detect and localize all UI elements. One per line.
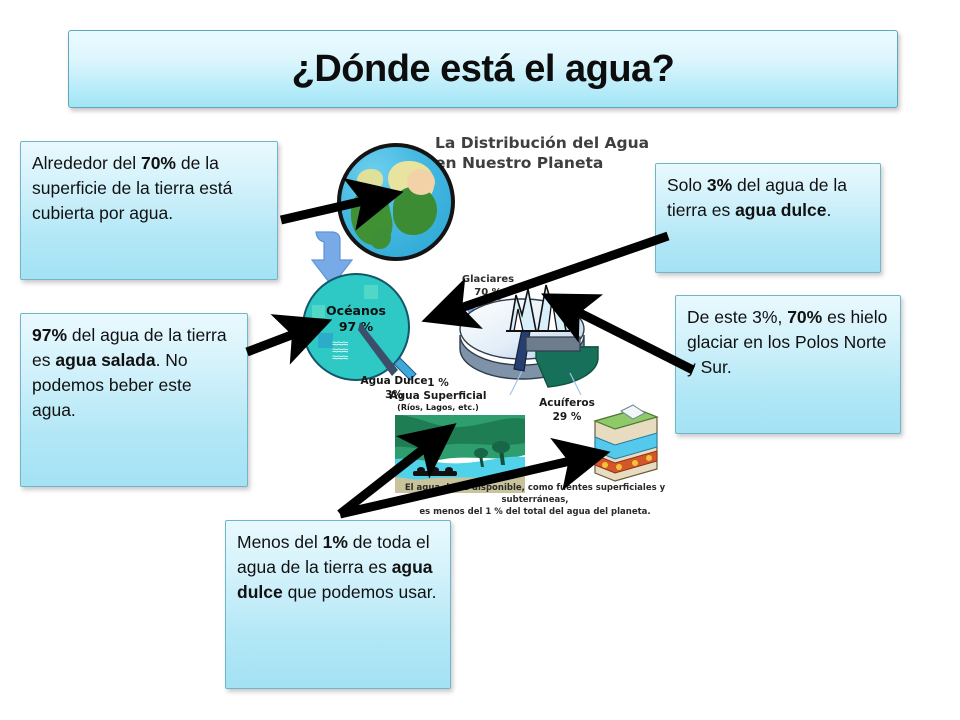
infographic-title-line2: en Nuestro Planeta [435,154,603,172]
acuiferos-value: 29 % [553,411,582,423]
agua-superficial-label: 1 % Agua Superficial (Ríos, Lagos, etc.) [378,377,498,413]
acuiferos-name: Acuíferos [539,397,595,409]
agua-superficial-name: Agua Superficial [389,390,486,402]
glaciares-name: Glaciares [462,274,514,285]
glaciares-value: 70 % [474,287,501,298]
infographic-caption-line1: El agua dulce disponible, como fuentes s… [405,483,665,505]
infographic-title: La Distribución del Agua en Nuestro Plan… [435,133,675,174]
aquifer-block-illustration [593,403,659,483]
callout-salt-97: 97% del agua de la tierra es agua salada… [20,313,248,487]
slide-title-banner: ¿Dónde está el agua? [68,30,898,108]
infographic-caption: El agua dulce disponible, como fuentes s… [400,483,670,519]
freshwater-pie-chart: Glaciares 70 % [452,265,602,395]
callout-usable-1-text: Menos del 1% de toda el agua de la tierr… [237,532,436,602]
callout-glacier-70: De este 3%, 70% es hielo glaciar en los … [675,295,901,434]
page-title: ¿Dónde está el agua? [292,48,675,91]
callout-fresh-3: Solo 3% del agua de la tierra es agua du… [655,163,881,273]
agua-superficial-value: 1 % [427,377,448,389]
callout-surface-70: Alrededor del 70% de la superficie de la… [20,141,278,280]
callout-salt-97-text: 97% del agua de la tierra es agua salada… [32,325,227,420]
earth-globe-icon [337,143,455,261]
callout-fresh-3-text: Solo 3% del agua de la tierra es agua du… [667,175,847,220]
agua-dulce-pointer-icon [358,320,424,382]
water-distribution-infographic: La Distribución del Agua en Nuestro Plan… [280,125,680,520]
infographic-caption-line2: es menos del 1 % del total del agua del … [419,507,650,517]
callout-surface-70-text: Alrededor del 70% de la superficie de la… [32,153,232,223]
agua-superficial-sub: (Ríos, Lagos, etc.) [378,403,498,413]
callout-usable-1: Menos del 1% de toda el agua de la tierr… [225,520,451,689]
surface-water-illustration [395,413,525,493]
oceans-name: Océanos [326,303,386,318]
callout-glacier-70-text: De este 3%, 70% es hielo glaciar en los … [687,307,887,377]
glaciares-label: Glaciares 70 % [458,273,518,299]
infographic-title-line1: La Distribución del Agua [435,134,649,152]
